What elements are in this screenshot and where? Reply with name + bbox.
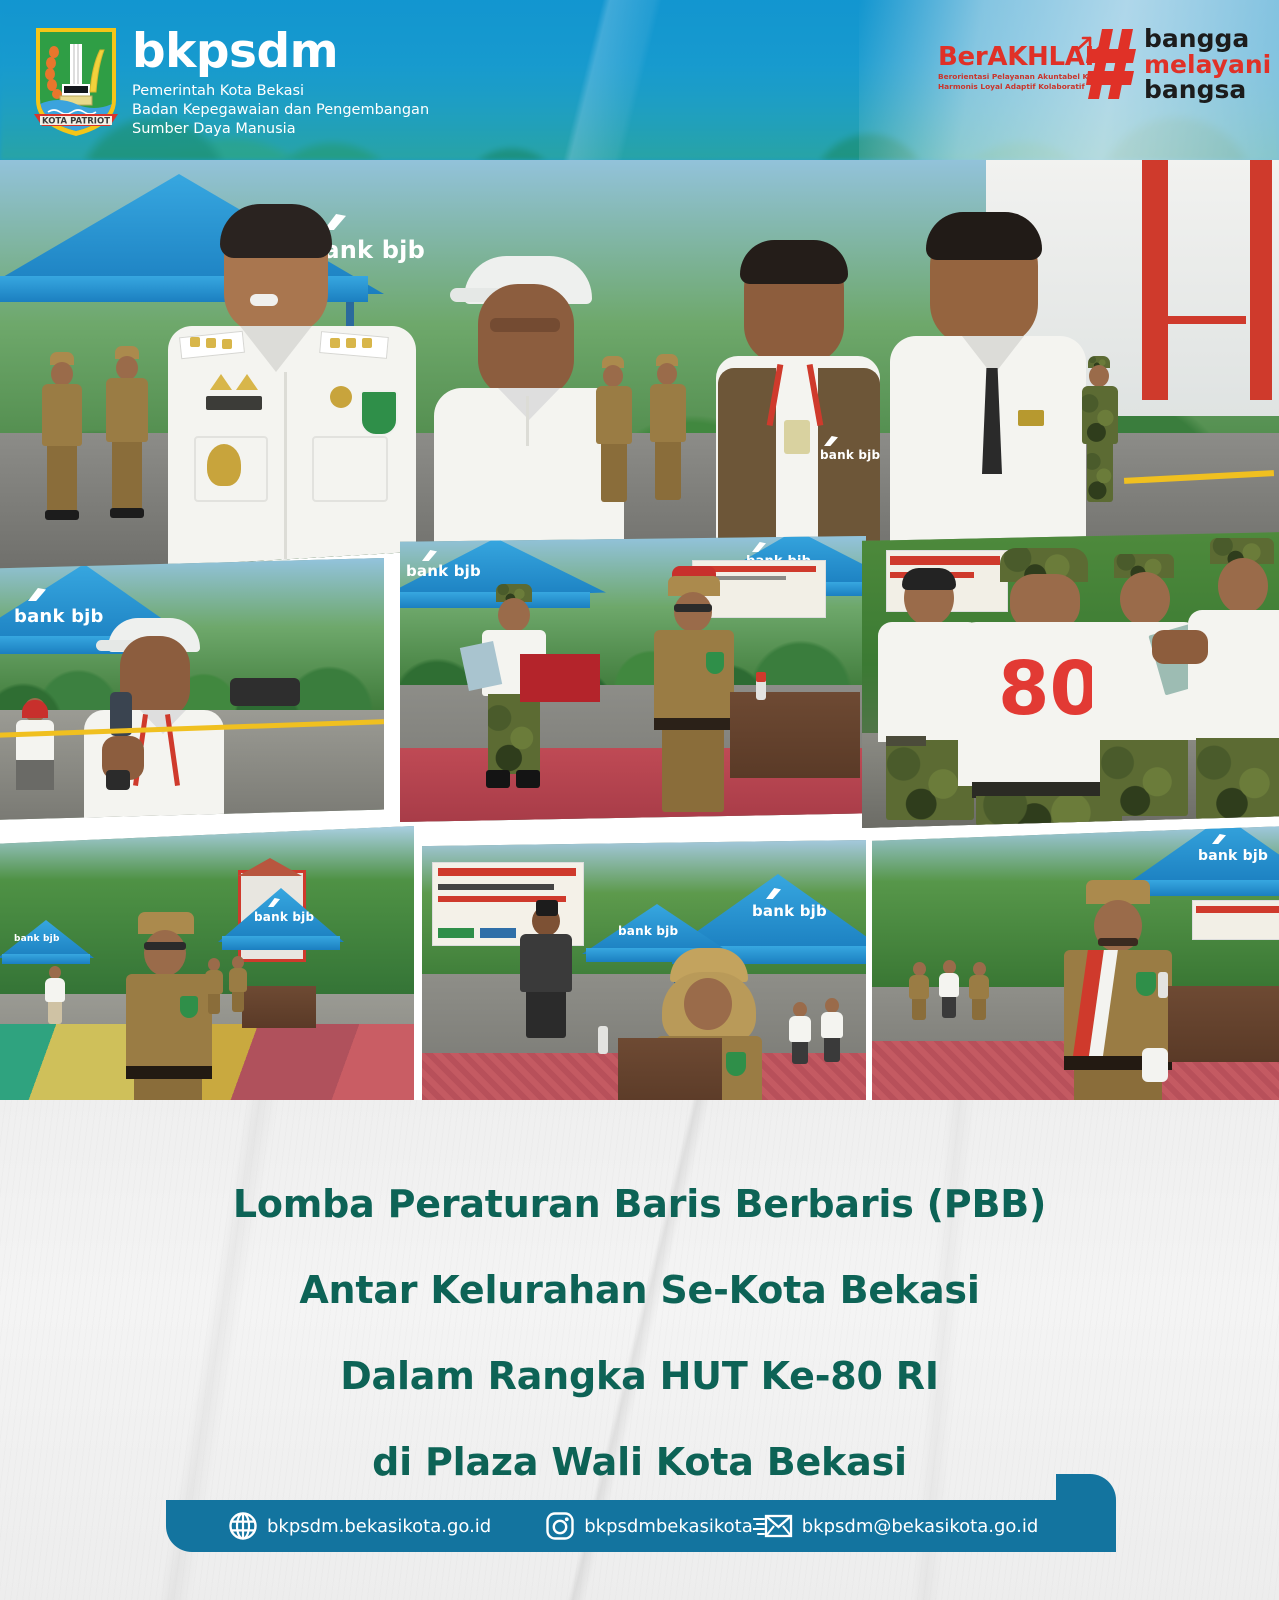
bangga-melayani-bangsa-logo: bangga melayani bangsa: [1086, 26, 1271, 103]
footer-email[interactable]: bkpsdm@bekasikota.go.id: [753, 1511, 1039, 1541]
photo-bottom-right-officer: bank bjb: [872, 826, 1279, 1124]
brand-lockup: bkpsdm Pemerintah Kota Bekasi Badan Kepe…: [132, 28, 429, 139]
header-banner: KOTA PATRIOT bkpsdm Pemerintah Kota Beka…: [0, 0, 1279, 160]
footer-instagram-label: bkpsdmbekasikota: [584, 1516, 753, 1537]
title-line-1: Lomba Peraturan Baris Berbaris (PBB): [0, 1185, 1279, 1223]
footer-website-label: bkpsdm.bekasikota.go.id: [267, 1516, 491, 1537]
photo-mid-right-80: 80: [862, 532, 1279, 828]
berakhlak-logo: BerAKHLAK Berorientasi Pelayanan Akuntab…: [938, 44, 1078, 92]
brand-name: bkpsdm: [132, 28, 429, 75]
emblem-banner-text: KOTA PATRIOT: [42, 117, 110, 127]
event-title-block: Lomba Peraturan Baris Berbaris (PBB) Ant…: [0, 1185, 1279, 1481]
berakhlak-subtitle: Berorientasi Pelayanan Akuntabel Kompete…: [938, 72, 1078, 92]
brand-subtitle: Pemerintah Kota Bekasi Badan Kepegawaian…: [132, 82, 429, 139]
bangga-line-2: melayani: [1144, 52, 1271, 78]
footer-email-label: bkpsdm@bekasikota.go.id: [802, 1516, 1039, 1537]
photo-collage: bank bjb: [0, 160, 1279, 1135]
berakhlak-sub-line-1: Berorientasi Pelayanan Akuntabel Kompete…: [938, 72, 1078, 82]
photo-bottom-left-field: bank bjb bank bjb: [0, 826, 414, 1126]
photo-bottom-center-hijab: bank bjb bank bjb: [422, 840, 866, 1135]
poster-root: KOTA PATRIOT bkpsdm Pemerintah Kota Beka…: [0, 0, 1279, 1600]
berakhlak-wordmark: BerAKHLAK: [938, 44, 1078, 70]
email-icon: [753, 1511, 793, 1541]
globe-icon: [228, 1511, 258, 1541]
instagram-icon: [545, 1511, 575, 1541]
bekasi-city-emblem-icon: KOTA PATRIOT: [30, 22, 122, 140]
bangga-line-1: bangga: [1144, 26, 1271, 52]
photo-top-officials: bank bjb: [0, 160, 1279, 576]
hashtag-icon: [1086, 27, 1138, 101]
berakhlak-prefix: Ber: [938, 42, 987, 72]
contact-footer-bar: bkpsdm.bekasikota.go.id bkpsdmbekasikota: [166, 1500, 1116, 1552]
title-line-3: Dalam Rangka HUT Ke-80 RI: [0, 1357, 1279, 1395]
brand-sub-line-3: Sumber Daya Manusia: [132, 120, 429, 139]
brand-sub-line-2: Badan Kepegawaian dan Pengembangan: [132, 101, 429, 120]
berakhlak-sub-line-2: Harmonis Loyal Adaptif Kolaboratif: [938, 82, 1078, 92]
photo-mid-left-speaker: bank bjb: [0, 558, 384, 820]
shirt-number-80: 80: [998, 652, 1101, 726]
brand-sub-line-1: Pemerintah Kota Bekasi: [132, 82, 429, 101]
title-line-2: Antar Kelurahan Se-Kota Bekasi: [0, 1271, 1279, 1309]
bangga-wordmark: bangga melayani bangsa: [1144, 26, 1271, 103]
bangga-line-3: bangsa: [1144, 77, 1271, 103]
footer-instagram[interactable]: bkpsdmbekasikota: [545, 1511, 753, 1541]
header-diagonal-streak: [440, 0, 770, 160]
footer-website[interactable]: bkpsdm.bekasikota.go.id: [228, 1511, 491, 1541]
photo-mid-center-ceremony: bank bjb bank bjb: [400, 536, 866, 822]
